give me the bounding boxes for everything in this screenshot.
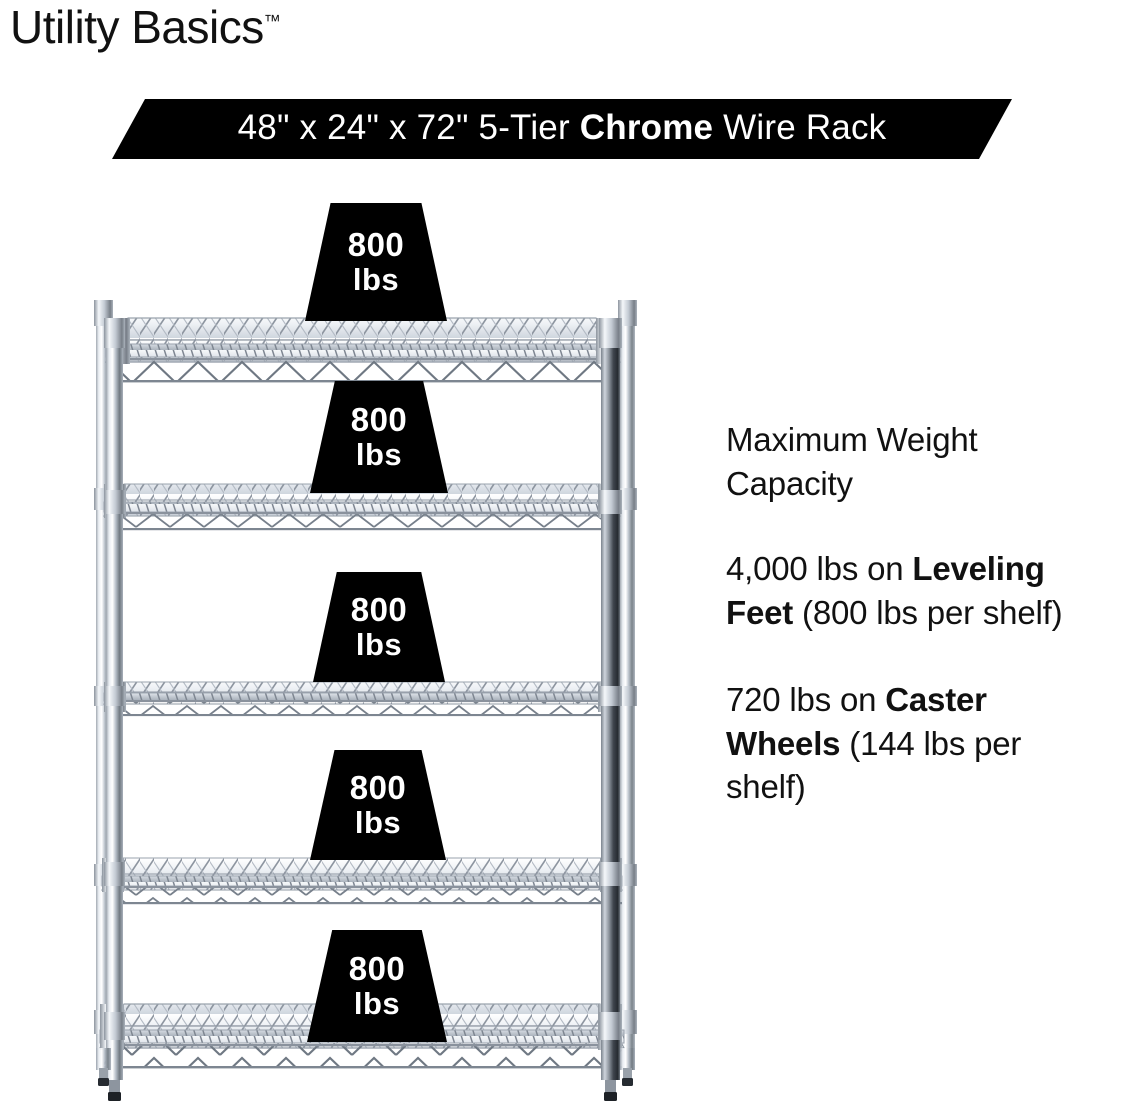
shelf-1 <box>106 318 620 382</box>
trapezoid-shape <box>305 203 447 321</box>
caster-wheels-capacity: 720 lbs on Caster Wheels (144 lbs per sh… <box>726 678 1098 809</box>
caster-total: 720 lbs <box>726 681 831 718</box>
leveling-on: on <box>858 550 912 587</box>
weight-callout-shelf-5: 800 lbs <box>307 930 447 1042</box>
shelf-3 <box>104 682 620 716</box>
shelf-4 <box>102 858 622 904</box>
trapezoid-shape <box>307 930 447 1042</box>
trapezoid-shape <box>310 750 446 860</box>
weight-callout-shelf-4: 800 lbs <box>310 750 446 860</box>
weight-callout-shelf-1: 800 lbs <box>305 203 447 321</box>
leveling-feet-capacity: 4,000 lbs on Leveling Feet (800 lbs per … <box>726 547 1098 634</box>
weight-callout-shelf-2: 800 lbs <box>310 381 448 493</box>
capacity-heading: Maximum Weight Capacity <box>726 418 1098 505</box>
trapezoid-shape <box>310 381 448 493</box>
caster-on: on <box>831 681 885 718</box>
leveling-per-shelf: (800 lbs per shelf) <box>793 594 1062 631</box>
capacity-copy-block: Maximum Weight Capacity 4,000 lbs on Lev… <box>726 418 1098 809</box>
trapezoid-shape <box>313 572 445 682</box>
leveling-total: 4,000 lbs <box>726 550 858 587</box>
weight-callout-shelf-3: 800 lbs <box>313 572 445 682</box>
banner-product: Wire Rack <box>723 110 886 145</box>
